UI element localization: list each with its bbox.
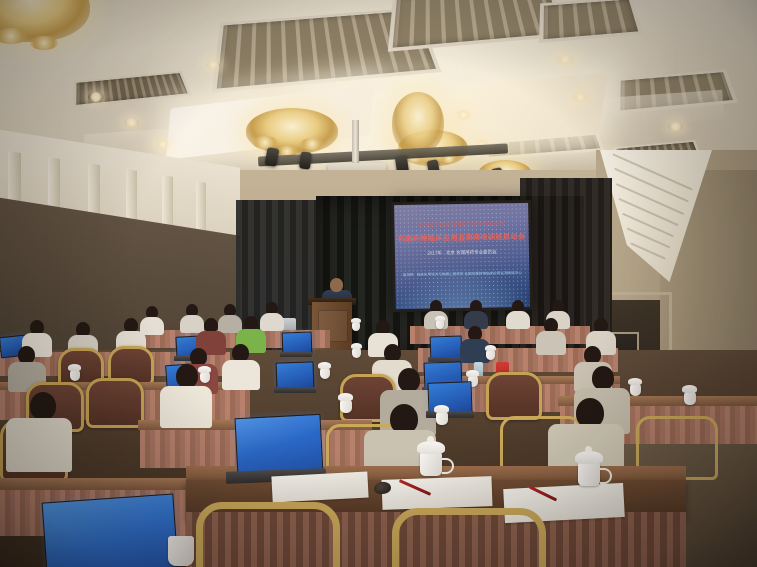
gold-frame-banquet-chair[interactable] [196,502,340,567]
attendee-body [140,317,164,335]
laptop-base [274,387,316,393]
banquet-table-top [0,478,204,490]
laptop-base [426,411,474,418]
recessed-downlight [455,110,472,120]
wall-pilaster [162,175,173,229]
teacup-lid [434,405,449,413]
attendee-body [536,331,566,355]
lidded-teacup [320,368,330,379]
lidded-teacup [486,350,495,360]
lidded-teacup [340,400,352,413]
projection-screen-surface: 中华医学会合理用药技术专家委员会 抗菌药物临床应用监测网培训班启动会 2017年… [394,203,530,309]
wall-pilaster [196,181,206,233]
recessed-downlight [156,140,170,149]
teacup-lid [435,316,445,321]
handout-paper[interactable] [271,472,368,503]
lidded-teacup [352,322,360,331]
conference-room-photo: 中华医学会合理用药技术专家委员会 抗菌药物临床应用监测网培训班启动会 2017年… [0,0,757,567]
projector-mount-pole [352,120,359,166]
attendee-body [160,386,212,428]
teacup-lid [682,385,697,393]
gold-frame-banquet-chair[interactable] [486,372,542,420]
teacup-knob [585,446,592,453]
recessed-downlight [206,60,220,69]
lidded-teacup [436,412,448,425]
teacup-lid [628,378,642,385]
projection-screen[interactable]: 中华医学会合理用药技术专家委员会 抗菌药物临床应用监测网培训班启动会 2017年… [391,200,533,312]
lidded-teacup [70,370,80,381]
laptop-base [280,352,312,357]
recessed-downlight [668,122,683,131]
lidded-teacup [630,384,641,396]
chandelier-arm [252,136,278,149]
attendee-body [506,311,530,329]
teacup-lid [485,345,496,351]
lidded-teacup [200,372,210,383]
lidded-teacup [420,452,442,476]
attendee-body [222,360,260,390]
lidded-teacup [684,392,696,405]
gold-crystal-chandelier [392,92,444,154]
attendee-body [260,313,284,331]
presenter-head [330,278,343,292]
stage-spotlight [299,151,312,169]
teacup-lid [466,370,479,377]
chandelier-arm [30,36,58,50]
chandelier-arm [300,138,324,150]
attendee-head [398,368,420,392]
gold-frame-banquet-chair[interactable] [86,378,144,428]
teacup-lid [351,343,362,349]
paper-cup [168,536,194,566]
teacup-lid [338,393,353,401]
recessed-downlight [124,118,139,127]
lidded-teacup [436,320,444,329]
attendee-head [592,366,614,390]
recessed-downlight [572,92,589,102]
attendee-body [6,418,72,472]
attendee-body [180,315,204,333]
wall-pilaster [126,169,137,225]
teacup-lid [318,362,331,369]
recessed-downlight [88,92,104,102]
lidded-teacup [578,462,600,486]
recessed-downlight [556,54,574,65]
lidded-teacup [352,348,361,358]
gold-frame-banquet-chair[interactable] [392,508,546,567]
teacup-lid [351,318,361,323]
teacup-lid [68,364,81,371]
teacup-lid [198,366,211,373]
teacup-knob [427,436,434,443]
attendee-head [176,364,198,388]
attendee-head [30,392,56,420]
open-laptop[interactable] [42,493,179,567]
